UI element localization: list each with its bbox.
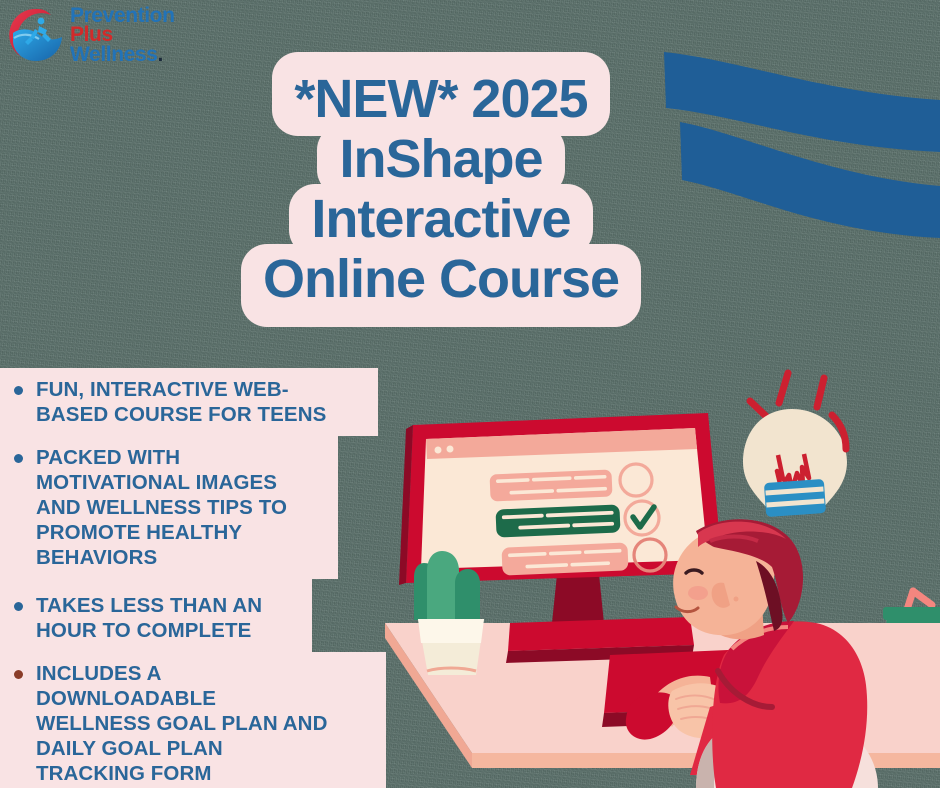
brand-logo: Prevention Plus Wellness. — [8, 6, 175, 64]
feature-bullet-list: FUN, INTERACTIVE WEB- BASED COURSE FOR T… — [0, 368, 386, 788]
bullet-dot-icon — [14, 602, 23, 611]
list-item: TAKES LESS THAN AN HOUR TO COMPLETE — [0, 579, 312, 652]
list-item: INCLUDES A DOWNLOADABLE WELLNESS GOAL PL… — [0, 652, 386, 788]
bullet-dot-icon — [14, 670, 23, 679]
idea-lightbulb — [743, 409, 847, 517]
title-line-4: Online Course — [241, 244, 641, 327]
bullet-text: INCLUDES A DOWNLOADABLE WELLNESS GOAL PL… — [36, 661, 327, 786]
brand-line-3: Wellness. — [70, 45, 175, 64]
page-title: *NEW* 2025 InShape Interactive Online Co… — [202, 52, 680, 327]
bullet-text: FUN, INTERACTIVE WEB- BASED COURSE FOR T… — [36, 377, 326, 427]
brand-wordmark: Prevention Plus Wellness. — [70, 6, 175, 64]
list-item: PACKED WITH MOTIVATIONAL IMAGES AND WELL… — [0, 436, 338, 579]
teen-at-desktop-computer-illustration — [380, 355, 940, 788]
bullet-text: PACKED WITH MOTIVATIONAL IMAGES AND WELL… — [36, 445, 287, 570]
bullet-text: TAKES LESS THAN AN HOUR TO COMPLETE — [36, 593, 262, 643]
bullet-dot-icon — [14, 386, 23, 395]
poster-canvas: Prevention Plus Wellness. *NEW* 2025 InS… — [0, 0, 940, 788]
bullet-dot-icon — [14, 454, 23, 463]
list-item: FUN, INTERACTIVE WEB- BASED COURSE FOR T… — [0, 368, 378, 436]
ppw-circle-swoosh-runner-logo — [8, 6, 66, 64]
